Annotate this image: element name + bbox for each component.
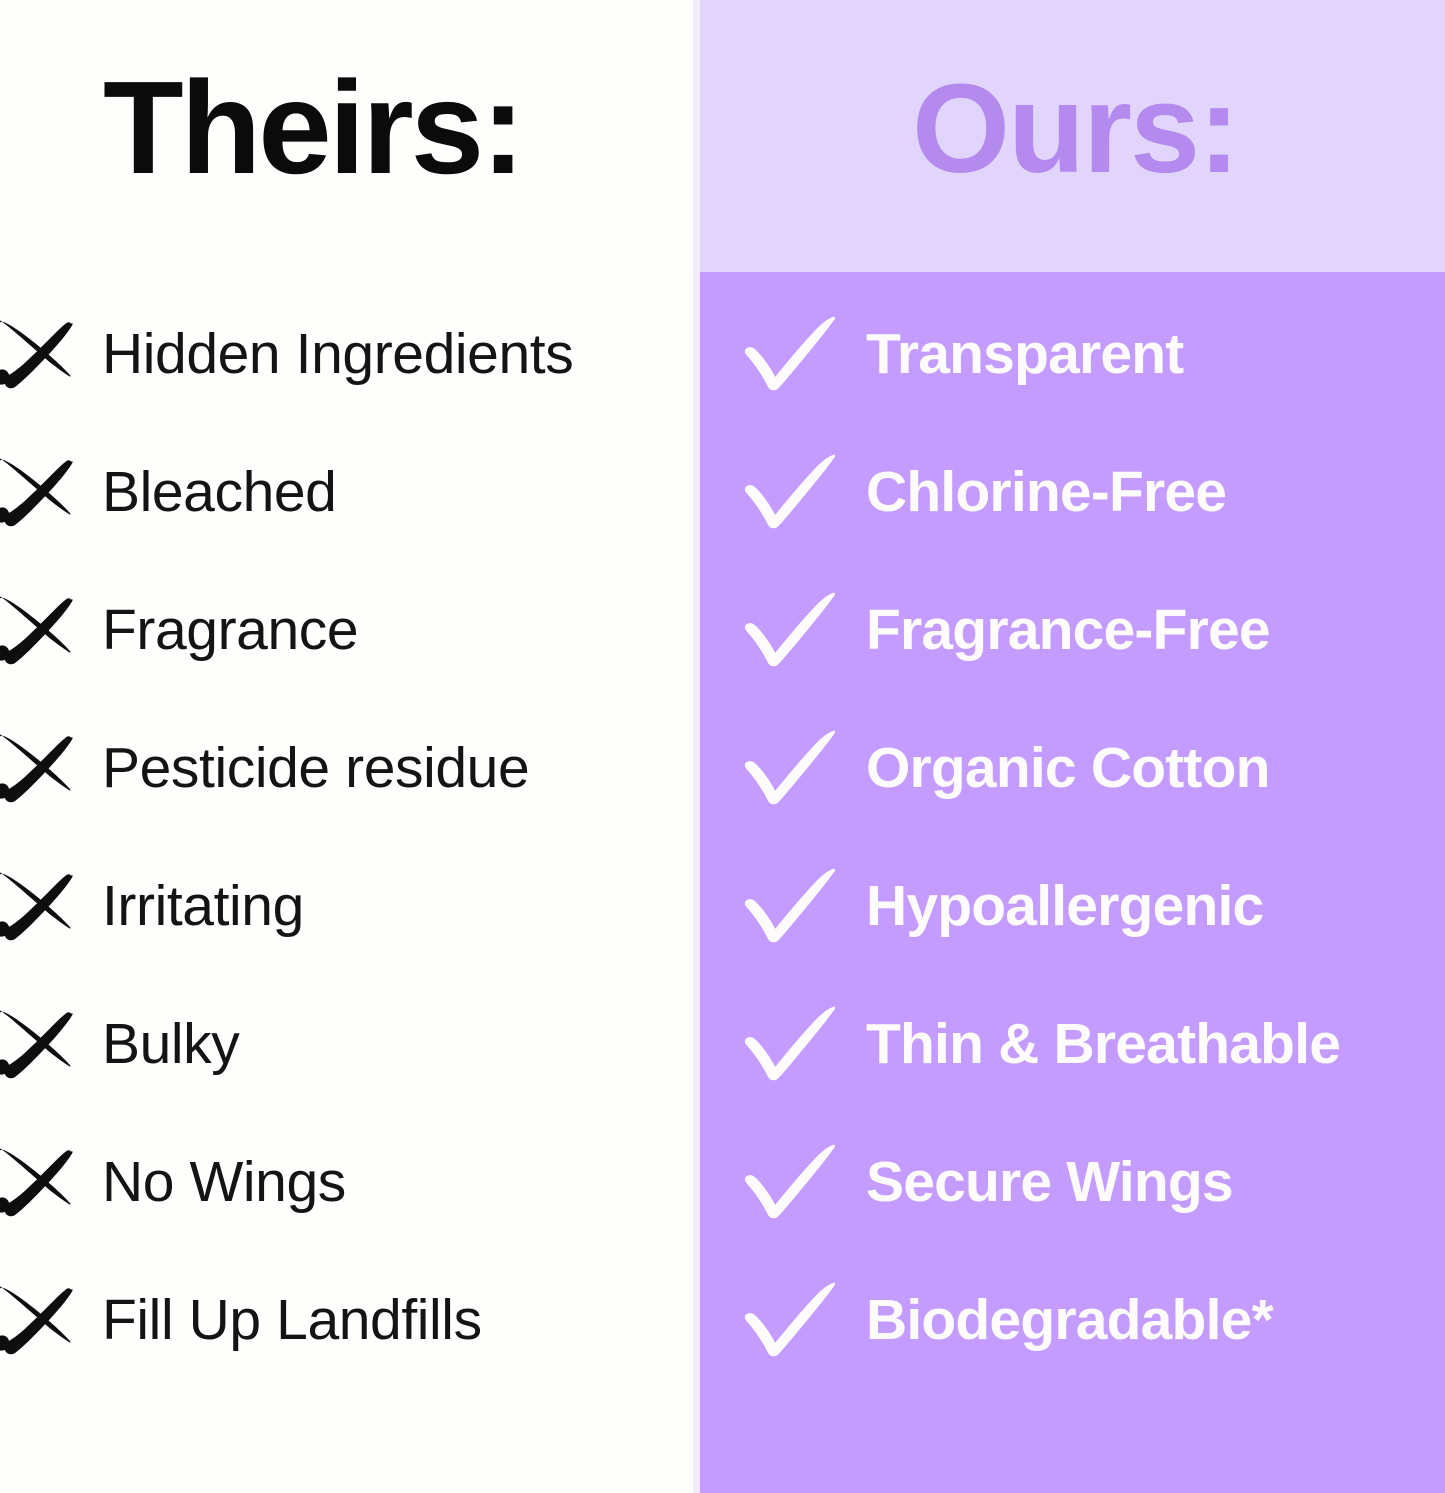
check-mark-icon (744, 1005, 836, 1085)
check-mark-icon (744, 729, 836, 809)
ours-list-item: Chlorine-Free (700, 445, 1445, 541)
check-mark-icon (744, 1281, 836, 1361)
comparison-graphic: Theirs: Ours: Hidden IngredientsBleached… (0, 0, 1445, 1493)
ours-list-item: Fragrance-Free (700, 583, 1445, 679)
ours-list-item: Secure Wings (700, 1135, 1445, 1231)
ours-list-item-label: Thin & Breathable (866, 1015, 1340, 1075)
ours-list-item-label: Transparent (866, 325, 1183, 385)
ours-list: TransparentChlorine-FreeFragrance-FreeOr… (0, 0, 1445, 1493)
ours-list-item-label: Biodegradable* (866, 1291, 1273, 1351)
ours-list-item: Transparent (700, 307, 1445, 403)
ours-list-item: Biodegradable* (700, 1273, 1445, 1369)
ours-list-item-label: Fragrance-Free (866, 601, 1270, 661)
ours-list-item-label: Organic Cotton (866, 739, 1270, 799)
ours-list-item-label: Secure Wings (866, 1153, 1233, 1213)
ours-list-item: Hypoallergenic (700, 859, 1445, 955)
ours-list-item-label: Hypoallergenic (866, 877, 1263, 937)
check-mark-icon (744, 315, 836, 395)
check-mark-icon (744, 1143, 836, 1223)
ours-list-item: Organic Cotton (700, 721, 1445, 817)
ours-list-item-label: Chlorine-Free (866, 463, 1226, 523)
ours-list-item: Thin & Breathable (700, 997, 1445, 1093)
check-mark-icon (744, 867, 836, 947)
check-mark-icon (744, 591, 836, 671)
check-mark-icon (744, 453, 836, 533)
